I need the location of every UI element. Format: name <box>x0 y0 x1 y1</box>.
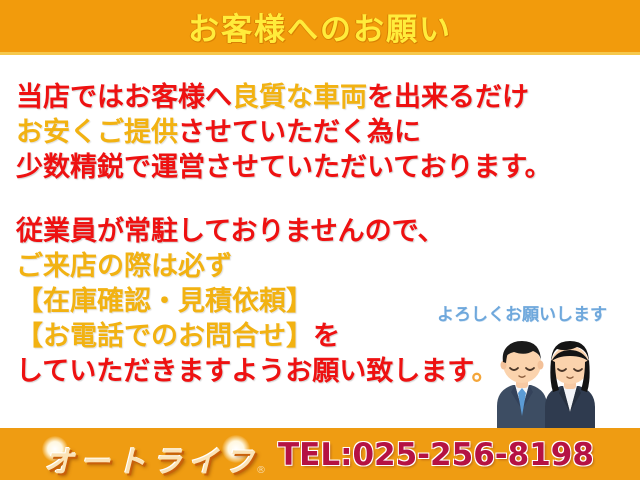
notice-line-7-part-b: を <box>313 321 340 352</box>
notice-line-5: ご来店の際は必ず <box>16 249 628 284</box>
notice-line-4-text: 従業員が常駐しておりませんので、 <box>16 216 445 247</box>
registered-trademark-icon: ® <box>256 465 266 476</box>
notice-line-2-part-b: させていただく為に <box>178 117 421 148</box>
notice-line-4: 従業員が常駐しておりませんので、 <box>16 214 628 249</box>
notice-line-1: 当店ではお客様へ良質な車両を出来るだけ <box>16 80 628 115</box>
notice-line-8-part-a: していただきますようお願い致します <box>16 356 472 387</box>
notice-line-5-text: ご来店の際は必ず <box>16 251 232 282</box>
notice-line-2: お安くご提供させていただく為に <box>16 115 628 150</box>
bowing-people-illustration <box>487 332 605 428</box>
header-underline <box>0 52 640 55</box>
dealer-logo: オートライフ ® <box>36 436 268 476</box>
notice-line-2-part-a: お安くご提供 <box>16 117 178 148</box>
notice-line-7-part-a: 【お電話でのお問合せ】 <box>16 321 313 352</box>
dealer-notice-poster: お客様へのお願い 当店ではお客様へ良質な車両を出来るだけ お安くご提供させていた… <box>0 0 640 480</box>
notice-line-3-text: 少数精鋭で運営させていただいております。 <box>16 152 552 183</box>
phone-number: TEL:025-256-8198 <box>278 437 594 473</box>
notice-line-3: 少数精鋭で運営させていただいております。 <box>16 150 628 185</box>
notice-line-1-part-c: を出来るだけ <box>367 82 529 113</box>
paragraph-spacer <box>16 185 628 214</box>
notice-line-1-part-a: 当店ではお客様へ <box>16 82 232 113</box>
greeting-text: よろしくお願いします <box>437 300 607 325</box>
notice-line-6-text: 【在庫確認・見積依頼】 <box>16 286 313 317</box>
notice-line-1-part-b: 良質な車両 <box>232 82 367 113</box>
page-title: お客様へのお願い <box>0 4 640 49</box>
bowing-people-icon <box>487 332 605 428</box>
logo-text: オートライフ <box>36 437 268 480</box>
